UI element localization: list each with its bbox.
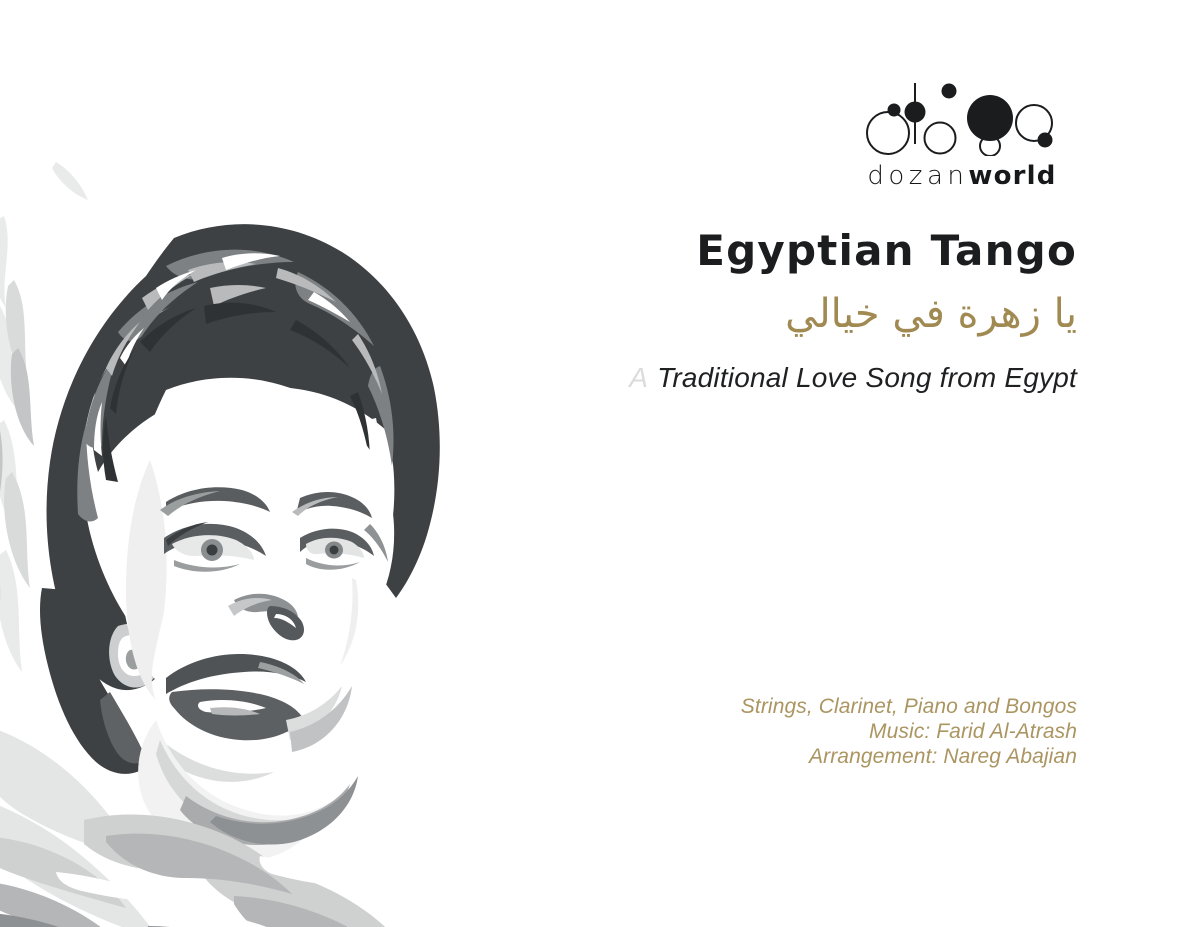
title-block: Egyptian Tango يا زهرة في خيالي A Tradit… <box>557 228 1077 394</box>
subtitle: A Traditional Love Song from Egypt <box>557 363 1077 394</box>
page-title: Egyptian Tango <box>557 228 1077 273</box>
credit-instrumentation: Strings, Clarinet, Piano and Bongos <box>557 694 1077 719</box>
cover-text-column: dozanworld Egyptian Tango يا زهرة في خيا… <box>600 0 1200 927</box>
brand-logo: dozanworld <box>847 78 1077 189</box>
dozan-world-circles-logo-icon <box>859 78 1065 156</box>
cover-page: dozanworld Egyptian Tango يا زهرة في خيا… <box>0 0 1200 927</box>
credit-arrangement: Arrangement: Nareg Abajian <box>557 744 1077 769</box>
credit-music: Music: Farid Al-Atrash <box>557 719 1077 744</box>
brand-wordmark: dozanworld <box>847 162 1077 189</box>
subtitle-text: Traditional Love Song from Egypt <box>657 362 1077 393</box>
arabic-title: يا زهرة في خيالي <box>557 287 1077 341</box>
brand-word-world: world <box>968 161 1056 191</box>
woman-portrait-illustration <box>0 120 520 927</box>
credits-block: Strings, Clarinet, Piano and Bongos Musi… <box>557 694 1077 769</box>
subtitle-article: A <box>629 362 648 393</box>
portrait-illustration <box>0 0 600 927</box>
brand-word-dozan: dozan <box>867 161 968 191</box>
